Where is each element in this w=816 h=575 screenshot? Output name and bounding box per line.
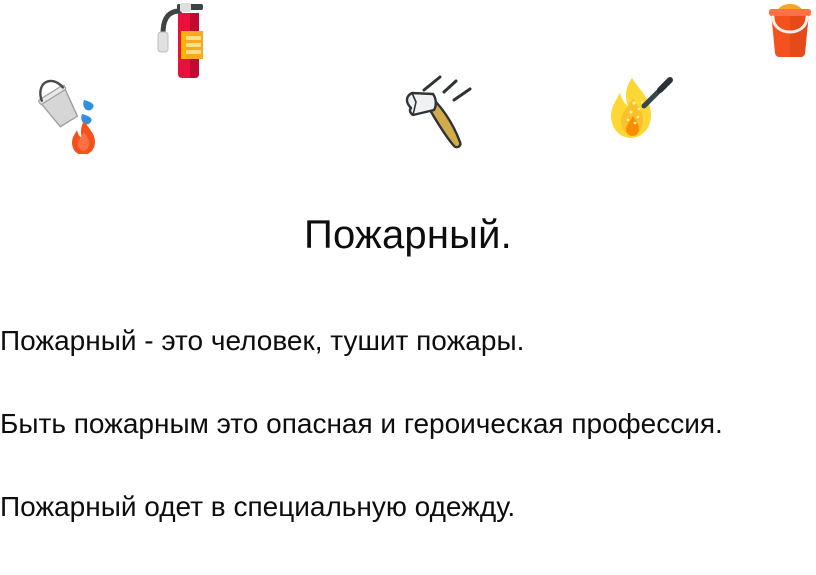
- fire-extinguisher-icon: [150, 2, 212, 80]
- slide-title: Пожарный.: [0, 213, 816, 258]
- bucket-icon: [765, 1, 815, 61]
- slide-canvas: Пожарный. Пожарный - это человек, тушит …: [0, 0, 816, 575]
- bucket-water-fire-icon: [34, 74, 112, 154]
- body-line: Пожарный одет в специальную одежду.: [0, 479, 816, 534]
- axe-icon: [400, 72, 478, 152]
- body-line: Костюм пожарного состоит из брюк, куртки…: [0, 562, 816, 575]
- body-line: Быть пожарным это опасная и героическая …: [0, 396, 816, 451]
- body-line: Пожарный - это человек, тушит пожары.: [0, 313, 816, 368]
- slide-body: Пожарный - это человек, тушит пожары. Бы…: [0, 285, 816, 575]
- flame-match-icon: [608, 76, 678, 148]
